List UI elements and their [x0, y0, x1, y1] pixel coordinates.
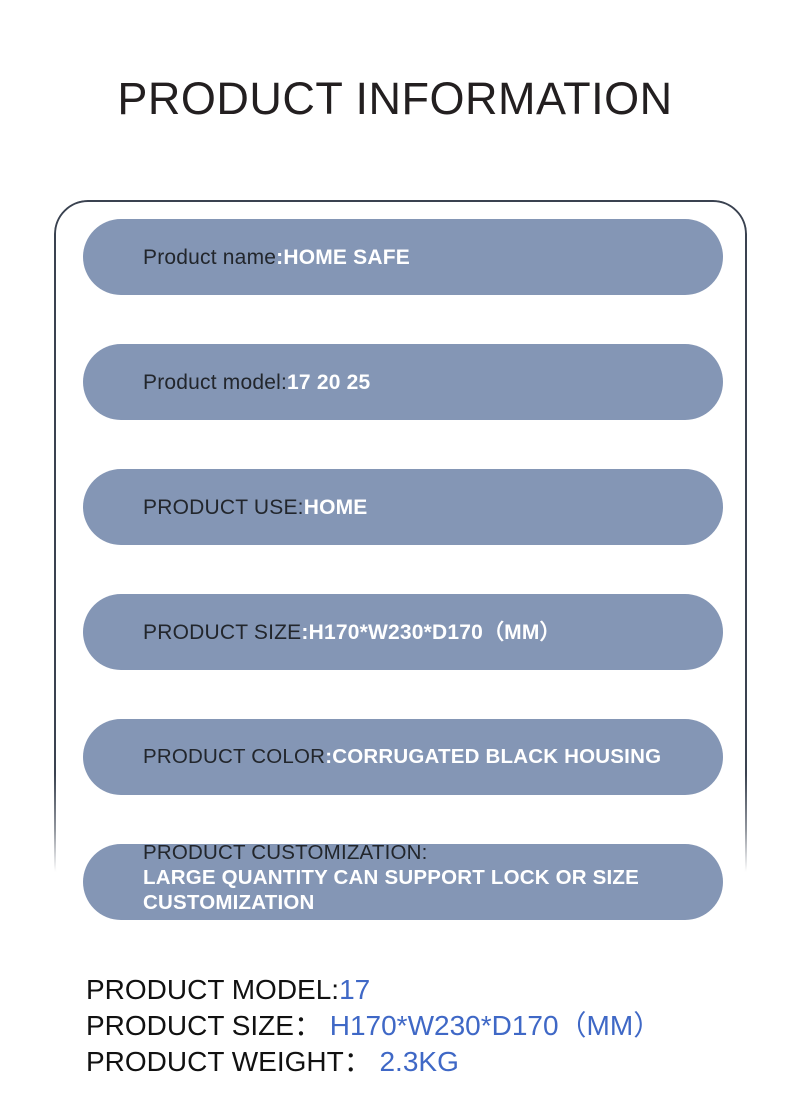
page-title: PRODUCT INFORMATION [0, 76, 790, 121]
spec-row-text: PRODUCT USE:HOME [143, 497, 368, 518]
footer-spec-list: PRODUCT MODEL:17 PRODUCT SIZE： H170*W230… [86, 972, 776, 1080]
spec-row-product-name: Product name:HOME SAFE [83, 219, 723, 295]
footer-value: H170*W230*D170（MM） [322, 1010, 661, 1041]
spec-value: LARGE QUANTITY CAN SUPPORT LOCK OR SIZE [143, 866, 639, 889]
spec-row-text: Product name:HOME SAFE [143, 247, 410, 268]
spec-label: PRODUCT CUSTOMIZATION: [143, 841, 428, 864]
spec-value-line-1: LARGE QUANTITY CAN SUPPORT LOCK OR SIZE [143, 866, 639, 890]
spec-value: H170*W230*D170（MM） [309, 621, 561, 644]
spec-row-product-model: Product model:17 20 25 [83, 344, 723, 420]
spec-value: HOME [304, 496, 368, 519]
spec-value: CORRUGATED BLACK HOUSING [332, 745, 661, 768]
spec-row-text: PRODUCT SIZE:H170*W230*D170（MM） [143, 622, 561, 643]
spec-pill-list: Product name:HOME SAFE Product model:17 … [83, 219, 723, 920]
spec-label: Product model: [143, 371, 287, 394]
spec-row-text: Product model:17 20 25 [143, 372, 370, 393]
spec-separator: : [301, 621, 308, 644]
footer-label: PRODUCT WEIGHT： [86, 1046, 372, 1077]
spec-row-product-use: PRODUCT USE:HOME [83, 469, 723, 545]
spec-label: PRODUCT COLOR [143, 745, 325, 768]
footer-value: 2.3KG [372, 1046, 459, 1077]
footer-value: 17 [339, 974, 370, 1005]
footer-label: PRODUCT MODEL: [86, 974, 339, 1005]
footer-row-product-weight: PRODUCT WEIGHT： 2.3KG [86, 1044, 776, 1080]
spec-label: PRODUCT SIZE [143, 621, 301, 644]
spec-row-product-color: PRODUCT COLOR:CORRUGATED BLACK HOUSING [83, 719, 723, 795]
spec-row-product-customization: PRODUCT CUSTOMIZATION: LARGE QUANTITY CA… [83, 844, 723, 920]
spec-row-text: PRODUCT COLOR:CORRUGATED BLACK HOUSING [143, 747, 661, 768]
footer-row-product-size: PRODUCT SIZE： H170*W230*D170（MM） [86, 1008, 776, 1044]
spec-value: 17 20 25 [287, 371, 370, 394]
spec-label: PRODUCT USE: [143, 496, 304, 519]
spec-value: HOME SAFE [283, 246, 410, 269]
spec-value-line-2: CUSTOMIZATION [143, 891, 639, 915]
spec-row-product-size: PRODUCT SIZE:H170*W230*D170（MM） [83, 594, 723, 670]
spec-value: CUSTOMIZATION [143, 891, 315, 914]
spec-row-text: PRODUCT CUSTOMIZATION: LARGE QUANTITY CA… [143, 843, 639, 917]
footer-label: PRODUCT SIZE： [86, 1010, 322, 1041]
footer-row-product-model: PRODUCT MODEL:17 [86, 972, 776, 1008]
spec-label-line: PRODUCT CUSTOMIZATION: [143, 843, 639, 864]
spec-label: Product name [143, 246, 276, 269]
